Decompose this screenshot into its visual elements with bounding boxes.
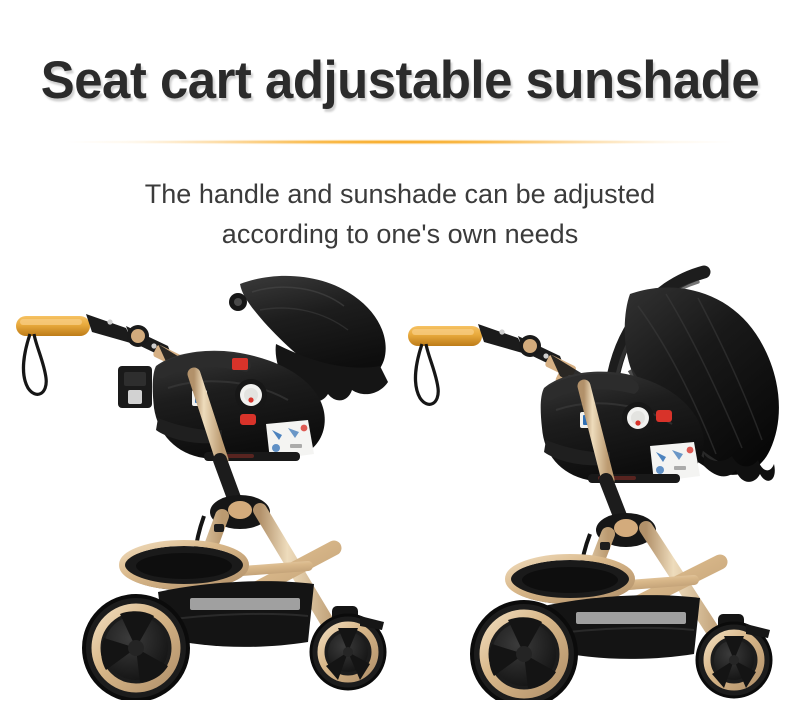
recline-dial-left[interactable] [235, 379, 267, 411]
handlebar-grip-left [16, 316, 90, 336]
page-title: Seat cart adjustable sunshade [16, 52, 784, 110]
page-subtitle: The handle and sunshade can be adjusted … [0, 174, 800, 254]
handlebar-grip-right [408, 326, 482, 346]
wrist-strap-right [416, 344, 439, 404]
reflective-strip-left [190, 598, 300, 610]
cup-holder-left [118, 366, 152, 408]
wrist-strap-left [24, 334, 47, 394]
subtitle-line-1: The handle and sunshade can be adjusted [0, 174, 800, 214]
release-button-left[interactable] [240, 414, 256, 425]
harness-buckle-left [232, 358, 248, 370]
product-photo-sunshade-extended [398, 248, 798, 700]
product-image-row [0, 248, 800, 700]
front-wheel-right [472, 602, 576, 700]
recline-dial-right[interactable] [622, 402, 654, 434]
release-button-right[interactable] [656, 410, 672, 422]
product-banner: Seat cart adjustable sunshade The handle… [0, 0, 800, 725]
reflective-strip-right [576, 612, 686, 624]
divider-rule [62, 139, 738, 145]
front-wheel-left [84, 596, 188, 700]
product-photo-sunshade-folded [8, 248, 408, 700]
